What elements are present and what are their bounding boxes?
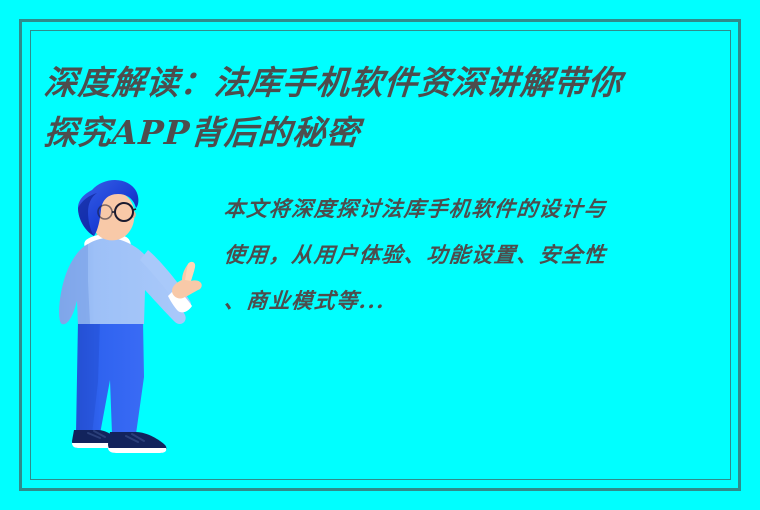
pointing-hand-shape (172, 262, 202, 299)
summary-line-1: 本文将深度探讨法库手机软件的设计与 (222, 186, 731, 232)
cover-canvas: 深度解读：法库手机软件资深讲解带你 探究APP背后的秘密 本文将深度探讨法库手机… (0, 0, 760, 510)
page-title: 深度解读：法库手机软件资深讲解带你 探究APP背后的秘密 (44, 58, 734, 158)
man-pointing-up-illustration (48, 172, 218, 472)
summary-line-3: 、商业模式等... (222, 278, 731, 324)
sweater-shape (59, 238, 191, 324)
title-line-2: 探究APP背后的秘密 (42, 108, 735, 158)
head-shape (78, 180, 138, 240)
pants-shape (76, 320, 144, 434)
article-summary: 本文将深度探讨法库手机软件的设计与 使用，从用户体验、功能设置、安全性 、商业模… (224, 186, 729, 324)
shoes-shape (72, 430, 166, 453)
title-line-1: 深度解读：法库手机软件资深讲解带你 (42, 58, 735, 108)
summary-line-2: 使用，从用户体验、功能设置、安全性 (222, 232, 731, 278)
